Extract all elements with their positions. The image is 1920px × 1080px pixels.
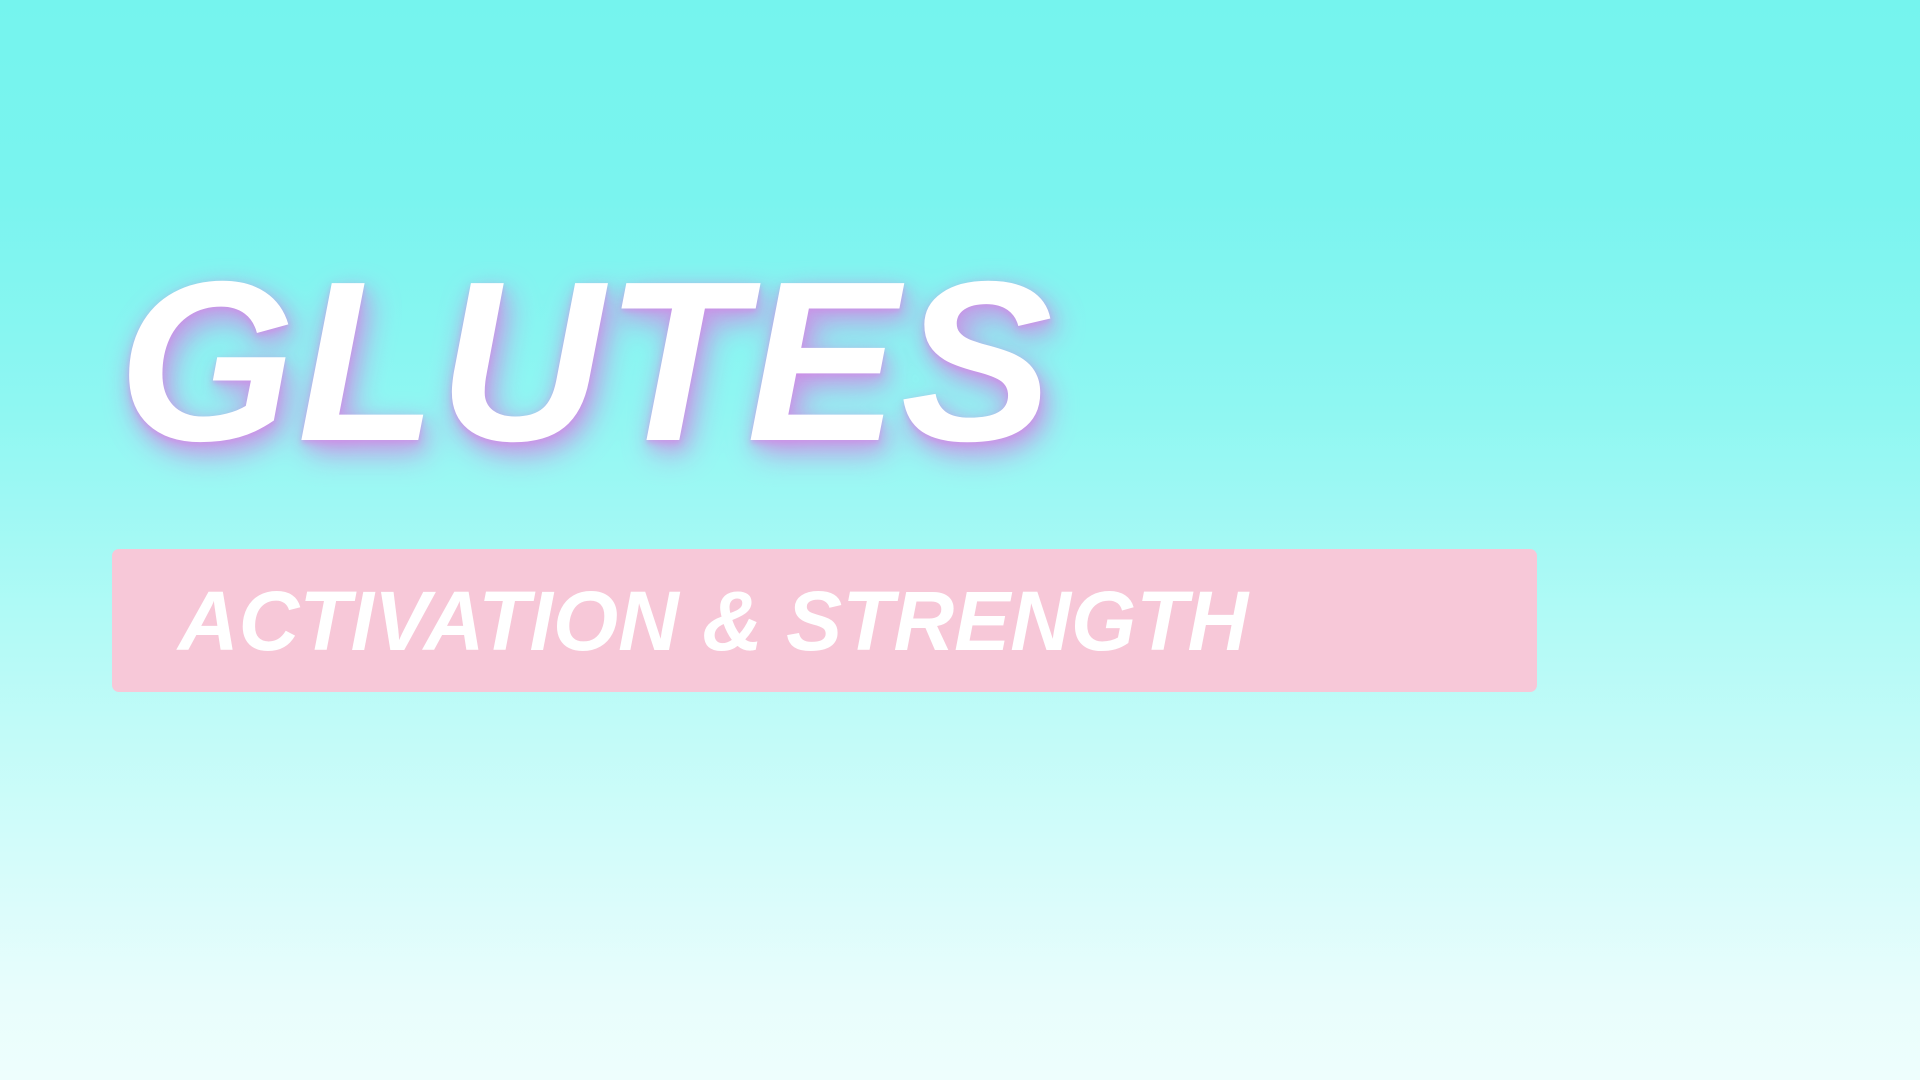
page-title: GLUTES [118,242,1055,482]
subtitle-bar: ACTIVATION & STRENGTH [112,549,1537,692]
title-card-slide: GLUTES GLUTES ACTIVATION & STRENGTH [0,0,1920,1080]
subtitle-text: ACTIVATION & STRENGTH [178,575,1248,667]
title-block: GLUTES GLUTES [0,242,1920,512]
